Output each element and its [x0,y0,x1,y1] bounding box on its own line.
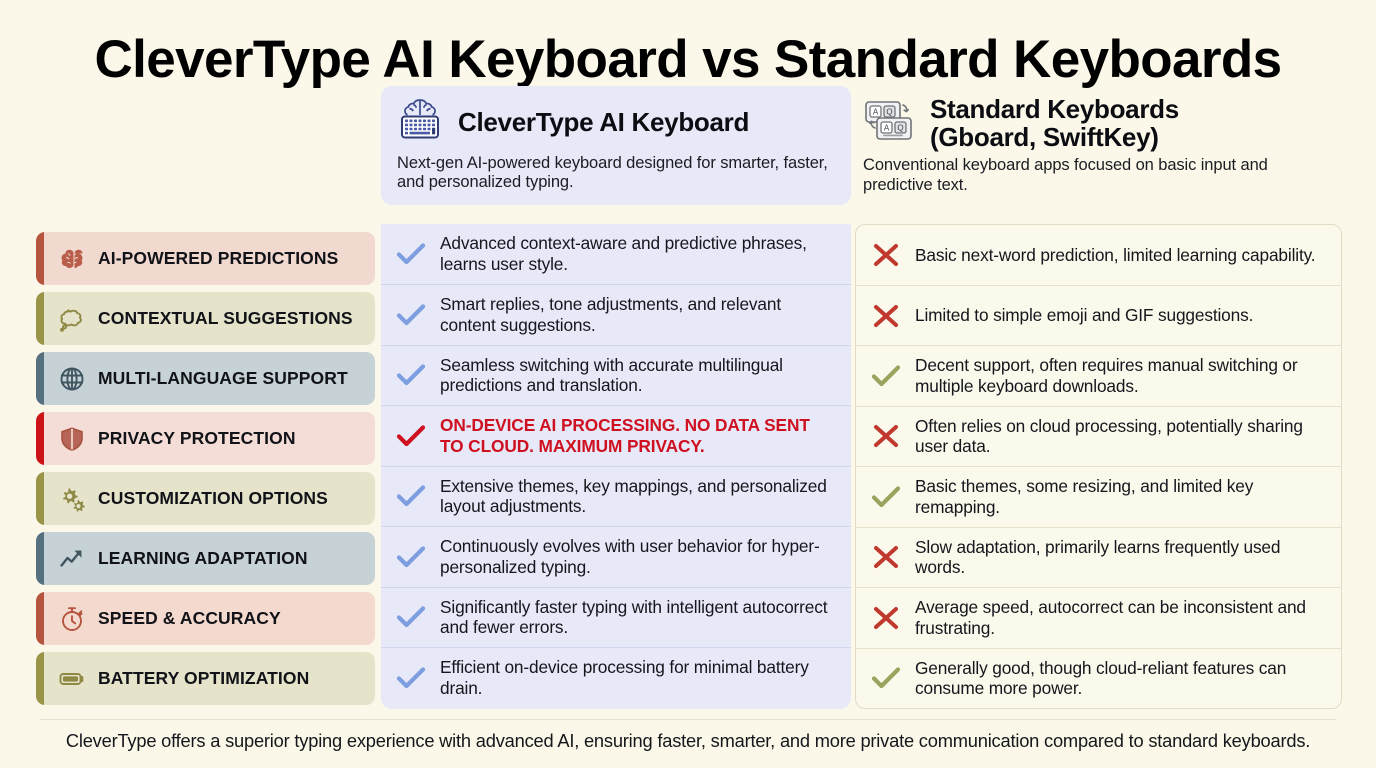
feature-label: PRIVACY PROTECTION [98,428,296,449]
check-icon [394,542,428,572]
feature-label: LEARNING ADAPTATION [98,548,308,569]
feature-accent-bar [36,232,44,285]
trending-up-icon [57,544,87,574]
standard-title: Standard Keyboards (Gboard, SwiftKey) [930,96,1179,151]
clevertype-header-top: CleverType AI Keyboard [395,96,839,149]
clevertype-cell: Advanced context-aware and predictive ph… [381,224,851,284]
standard-cell: Basic themes, some resizing, and limited… [856,466,1341,527]
feature-row[interactable]: AI-POWERED PREDICTIONS [36,232,375,285]
feature-label: BATTERY OPTIMIZATION [98,668,309,689]
standard-title-line2: (Gboard, SwiftKey) [930,122,1159,152]
standard-column-header: A Q A Q Standard Keyboards (Gboard, S [855,86,1342,205]
standard-cell-text: Average speed, autocorrect can be incons… [915,597,1327,639]
feature-row[interactable]: BATTERY OPTIMIZATION [36,652,375,705]
feature-row[interactable]: MULTI-LANGUAGE SUPPORT [36,352,375,405]
feature-row[interactable]: SPEED & ACCURACY [36,592,375,645]
infographic-page: CleverType AI Keyboard vs Standard Keybo… [0,0,1376,768]
feature-accent-bar [36,292,44,345]
battery-icon [57,664,87,694]
feature-label: SPEED & ACCURACY [98,608,281,629]
check-icon [394,421,428,451]
feature-accent-bar [36,592,44,645]
check-icon [394,239,428,269]
standard-column: Basic next-word prediction, limited lear… [855,224,1342,709]
feature-accent-bar [36,352,44,405]
gears-icon [57,484,87,514]
feature-accent-bar [36,472,44,525]
stopwatch-icon [57,604,87,634]
feature-label: CUSTOMIZATION OPTIONS [98,488,328,509]
brain-keyboard-icon [395,96,445,149]
globe-icon [57,364,87,394]
standard-subtitle: Conventional keyboard apps focused on ba… [863,156,1330,195]
clevertype-cell-text: Continuously evolves with user behavior … [440,536,837,578]
clevertype-cell-text: ON-DEVICE AI PROCESSING. NO DATA SENT TO… [440,415,837,457]
feature-label: MULTI-LANGUAGE SUPPORT [98,368,348,389]
clevertype-cell: Extensive themes, key mappings, and pers… [381,466,851,527]
check-icon [869,663,903,693]
check-icon [869,482,903,512]
clevertype-column-header: CleverType AI Keyboard Next-gen AI-power… [381,86,851,205]
clevertype-title: CleverType AI Keyboard [458,109,749,137]
clevertype-cell-text: Significantly faster typing with intelli… [440,597,837,639]
svg-text:Q: Q [886,108,892,117]
check-icon [394,481,428,511]
standard-cell-text: Basic themes, some resizing, and limited… [915,476,1327,518]
standard-cell-text: Often relies on cloud processing, potent… [915,416,1327,458]
feature-label: CONTEXTUAL SUGGESTIONS [98,308,353,329]
standard-cell: Average speed, autocorrect can be incons… [856,587,1341,648]
thought-bubble-icon [57,304,87,334]
standard-cell: Generally good, though cloud-reliant fea… [856,648,1341,709]
feature-accent-bar [36,652,44,705]
standard-header-top: A Q A Q Standard Keyboards (Gboard, S [863,96,1330,151]
check-icon [869,361,903,391]
shield-icon [57,424,87,454]
footer-summary: CleverType offers a superior typing expe… [0,730,1376,752]
clevertype-cell-text: Smart replies, tone adjustments, and rel… [440,294,837,336]
feature-row[interactable]: LEARNING ADAPTATION [36,532,375,585]
standard-cell: Often relies on cloud processing, potent… [856,406,1341,467]
cross-icon [869,301,903,331]
standard-cell-text: Limited to simple emoji and GIF suggesti… [915,305,1253,326]
standard-title-line1: Standard Keyboards [930,94,1179,124]
clevertype-cell-text: Advanced context-aware and predictive ph… [440,233,837,275]
clevertype-cell: Seamless switching with accurate multili… [381,345,851,406]
cross-icon [869,542,903,572]
standard-cell-text: Generally good, though cloud-reliant fea… [915,658,1327,700]
standard-cell: Limited to simple emoji and GIF suggesti… [856,285,1341,345]
feature-accent-bar [36,532,44,585]
feature-sidebar: AI-POWERED PREDICTIONSCONTEXTUAL SUGGEST… [36,224,375,709]
standard-cell-text: Decent support, often requires manual sw… [915,355,1327,397]
brain-icon [57,244,87,274]
page-title: CleverType AI Keyboard vs Standard Keybo… [36,0,1340,86]
feature-row[interactable]: PRIVACY PROTECTION [36,412,375,465]
feature-row[interactable]: CONTEXTUAL SUGGESTIONS [36,292,375,345]
cross-icon [869,421,903,451]
svg-text:A: A [884,124,890,133]
svg-text:A: A [873,108,879,117]
clevertype-cell-text: Extensive themes, key mappings, and pers… [440,476,837,518]
cross-icon [869,240,903,270]
feature-row[interactable]: CUSTOMIZATION OPTIONS [36,472,375,525]
column-headers: CleverType AI Keyboard Next-gen AI-power… [36,86,1340,205]
standard-cell: Decent support, often requires manual sw… [856,345,1341,406]
check-icon [394,300,428,330]
keyboard-switch-icon: A Q A Q [863,98,917,149]
clevertype-cell: Continuously evolves with user behavior … [381,526,851,587]
standard-cell-text: Basic next-word prediction, limited lear… [915,245,1315,266]
feature-label: AI-POWERED PREDICTIONS [98,248,338,269]
clevertype-subtitle: Next-gen AI-powered keyboard designed fo… [395,154,839,193]
check-icon [394,663,428,693]
clevertype-cell-text: Seamless switching with accurate multili… [440,355,837,397]
clevertype-cell-text: Efficient on-device processing for minim… [440,657,837,699]
check-icon [394,360,428,390]
standard-cell: Slow adaptation, primarily learns freque… [856,527,1341,588]
header-spacer-left [36,86,375,205]
clevertype-cell: ON-DEVICE AI PROCESSING. NO DATA SENT TO… [381,405,851,466]
clevertype-column: Advanced context-aware and predictive ph… [381,224,851,709]
svg-text:Q: Q [897,124,903,133]
clevertype-cell: Efficient on-device processing for minim… [381,647,851,708]
feature-accent-bar [36,412,44,465]
clevertype-cell: Significantly faster typing with intelli… [381,587,851,648]
standard-cell: Basic next-word prediction, limited lear… [856,225,1341,285]
footer-divider [40,719,1336,720]
cross-icon [869,603,903,633]
check-icon [394,602,428,632]
standard-cell-text: Slow adaptation, primarily learns freque… [915,537,1327,579]
clevertype-cell: Smart replies, tone adjustments, and rel… [381,284,851,345]
comparison-grid: AI-POWERED PREDICTIONSCONTEXTUAL SUGGEST… [36,224,1340,709]
